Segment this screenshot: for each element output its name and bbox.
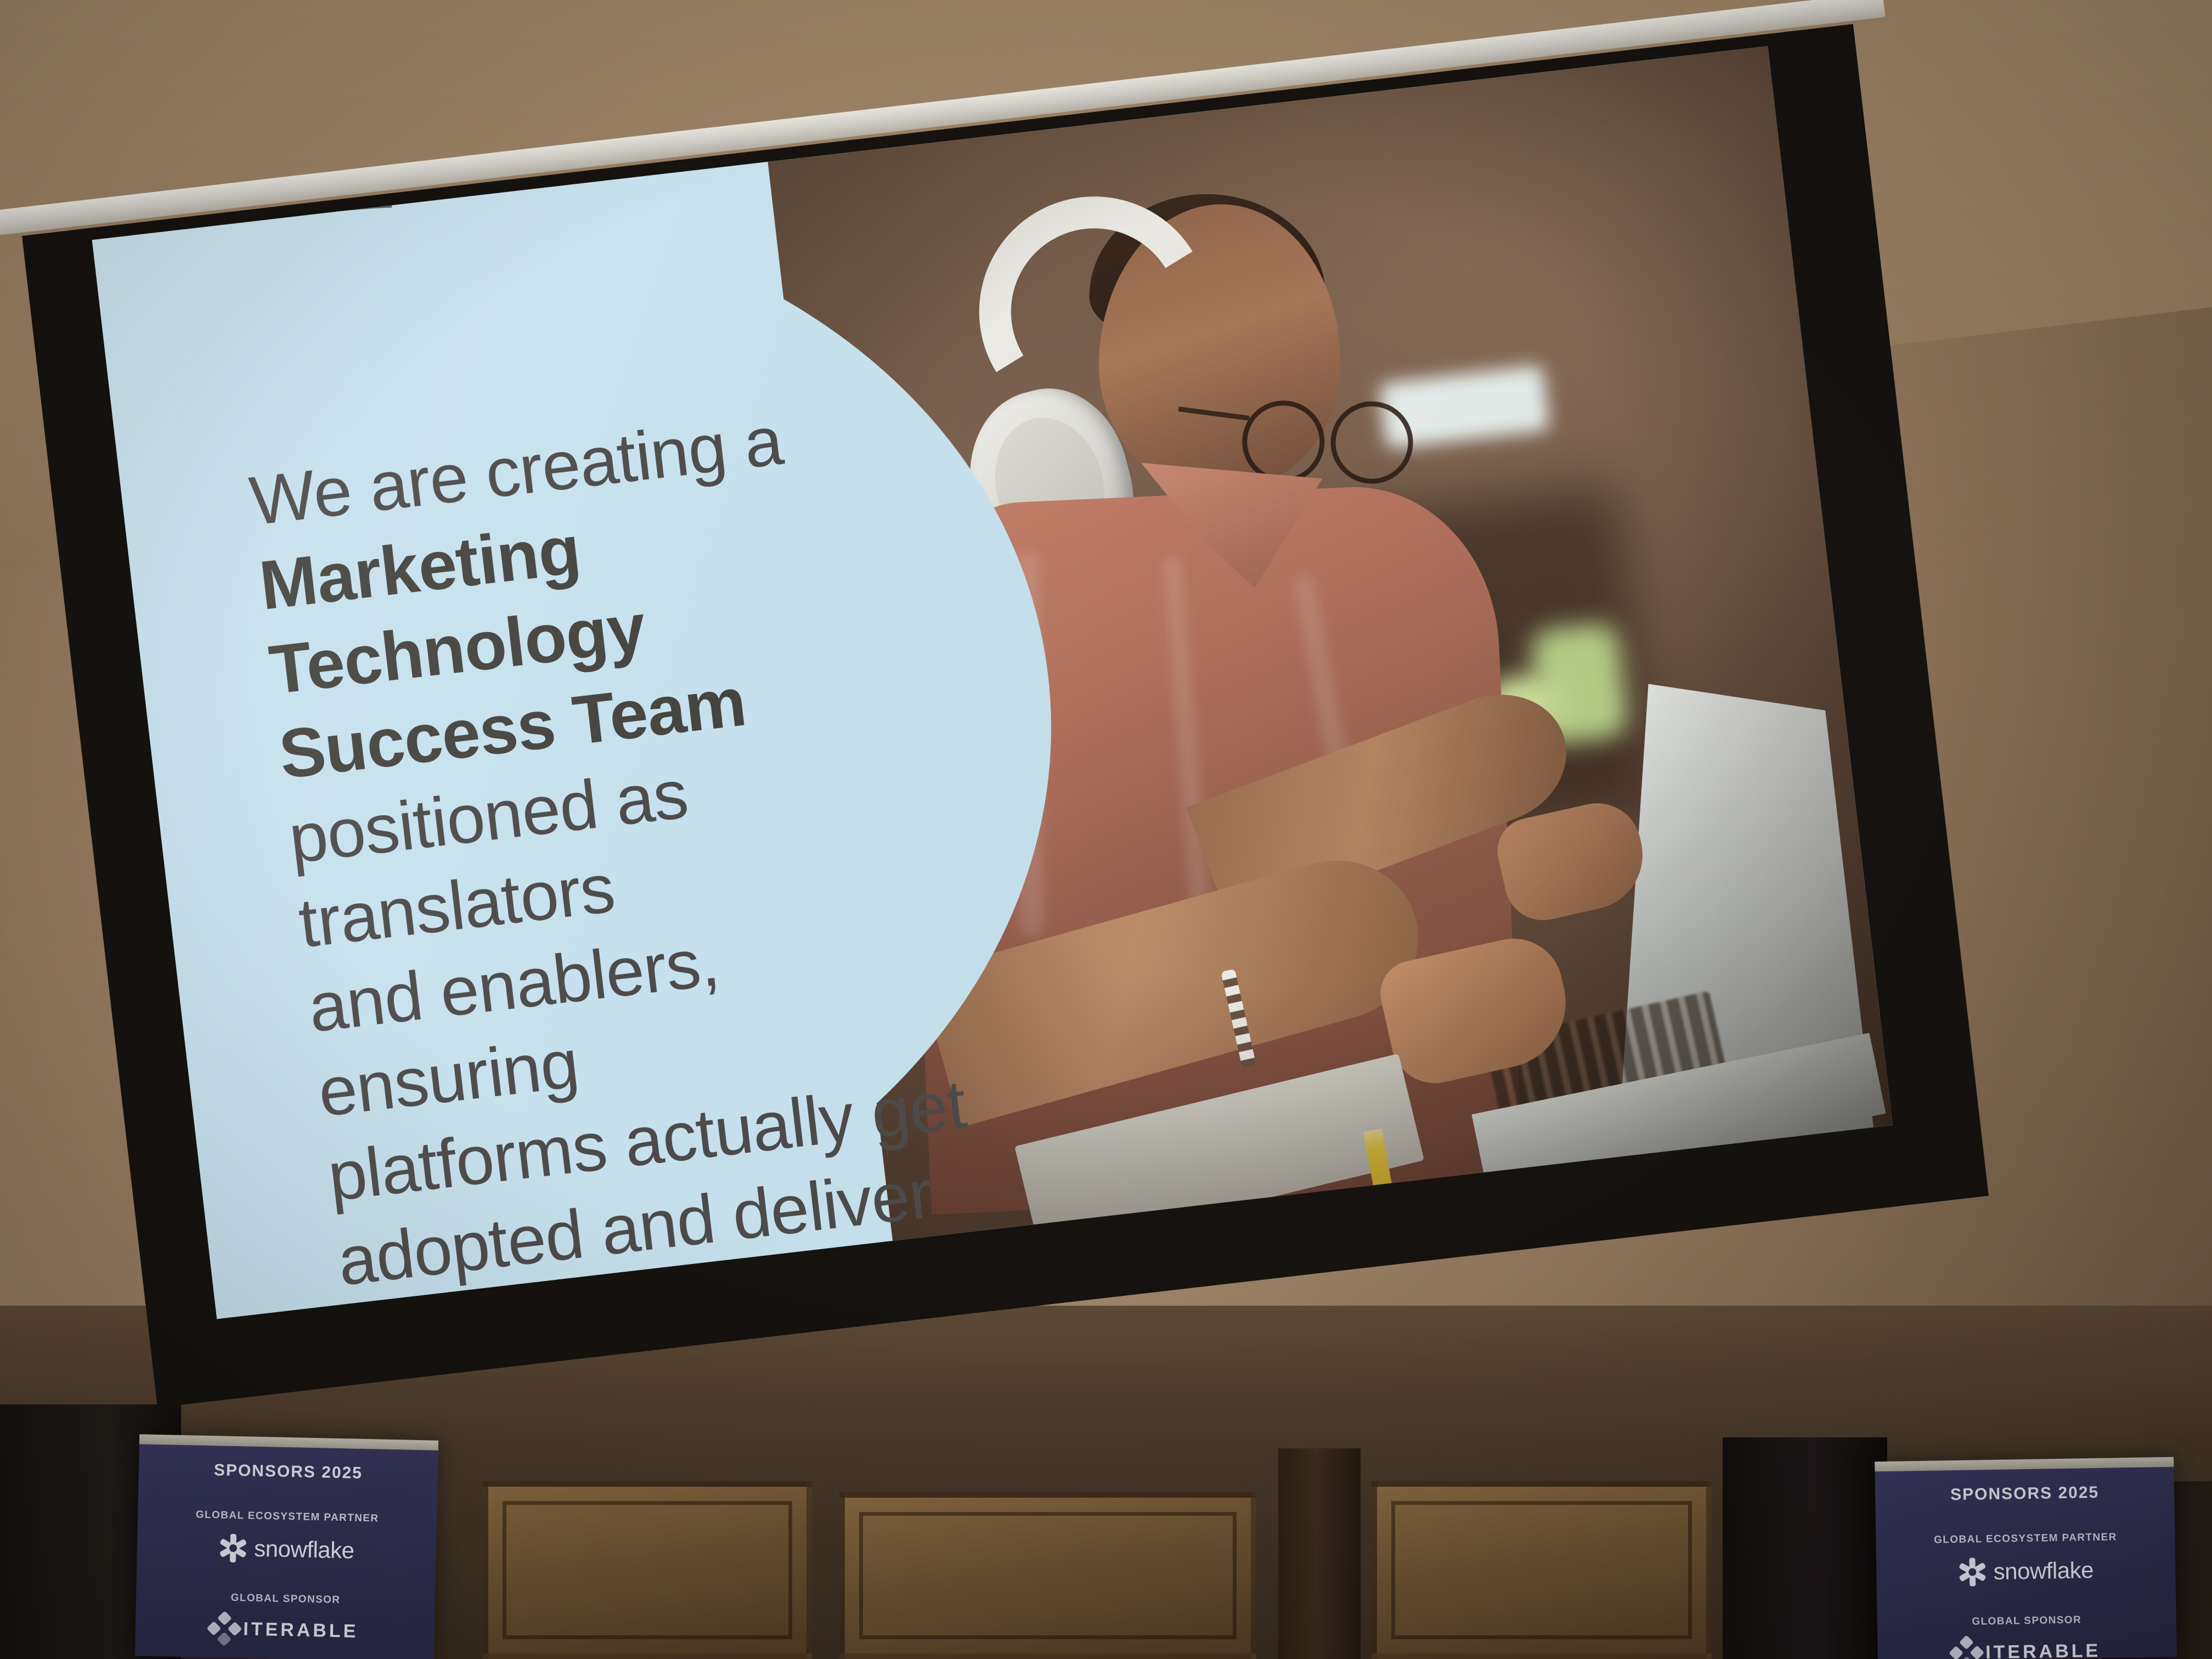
iterable-wordmark: ITERABLE — [1985, 1640, 2101, 1659]
curtain-right — [1723, 1437, 1887, 1659]
iterable-icon — [206, 1611, 242, 1646]
iterable-icon — [1949, 1635, 1984, 1659]
room-pillar — [1278, 1448, 1361, 1659]
banner-tier-label-ecosystem: GLOBAL ECOSYSTEM PARTNER — [138, 1508, 437, 1526]
wood-door-center — [839, 1492, 1256, 1659]
snowflake-icon — [219, 1533, 248, 1562]
iterable-logo: ITERABLE — [135, 1614, 435, 1645]
snowflake-logo: snowflake — [137, 1532, 436, 1566]
banner-tier-label-ecosystem: GLOBAL ECOSYSTEM PARTNER — [1876, 1531, 2175, 1548]
iterable-wordmark: ITERABLE — [243, 1618, 359, 1642]
banner-title: SPONSORS 2025 — [1875, 1482, 2174, 1506]
slide-body-copy: We are creating a Marketing Technology S… — [246, 385, 996, 1319]
snowflake-icon — [1958, 1558, 1987, 1587]
banner-tier-label-global: GLOBAL SPONSOR — [1877, 1613, 2176, 1630]
wood-door-center-inner-panel — [859, 1512, 1237, 1639]
iterable-logo: ITERABLE — [1877, 1637, 2176, 1659]
wood-door-right — [1372, 1481, 1712, 1659]
wood-door-left — [483, 1481, 812, 1659]
snowflake-wordmark: snowflake — [1993, 1557, 2093, 1585]
banner-tier-label-global: GLOBAL SPONSOR — [136, 1590, 435, 1608]
banner-title: SPONSORS 2025 — [139, 1459, 438, 1484]
snowflake-wordmark: snowflake — [254, 1536, 354, 1564]
wood-door-left-inner-panel — [503, 1501, 792, 1639]
projected-slide: We are creating a Marketing Technology S… — [92, 46, 1893, 1319]
sponsor-banner-right: SPONSORS 2025 GLOBAL ECOSYSTEM PARTNER s… — [1875, 1457, 2177, 1659]
projection-screen: We are creating a Marketing Technology S… — [22, 24, 1989, 1408]
sponsor-banner-left: SPONSORS 2025 GLOBAL ECOSYSTEM PARTNER s… — [135, 1434, 438, 1659]
snowflake-logo: snowflake — [1876, 1555, 2176, 1588]
wood-door-right-inner-panel — [1391, 1501, 1692, 1639]
slide-line-2: Marketing Technology — [256, 510, 649, 708]
